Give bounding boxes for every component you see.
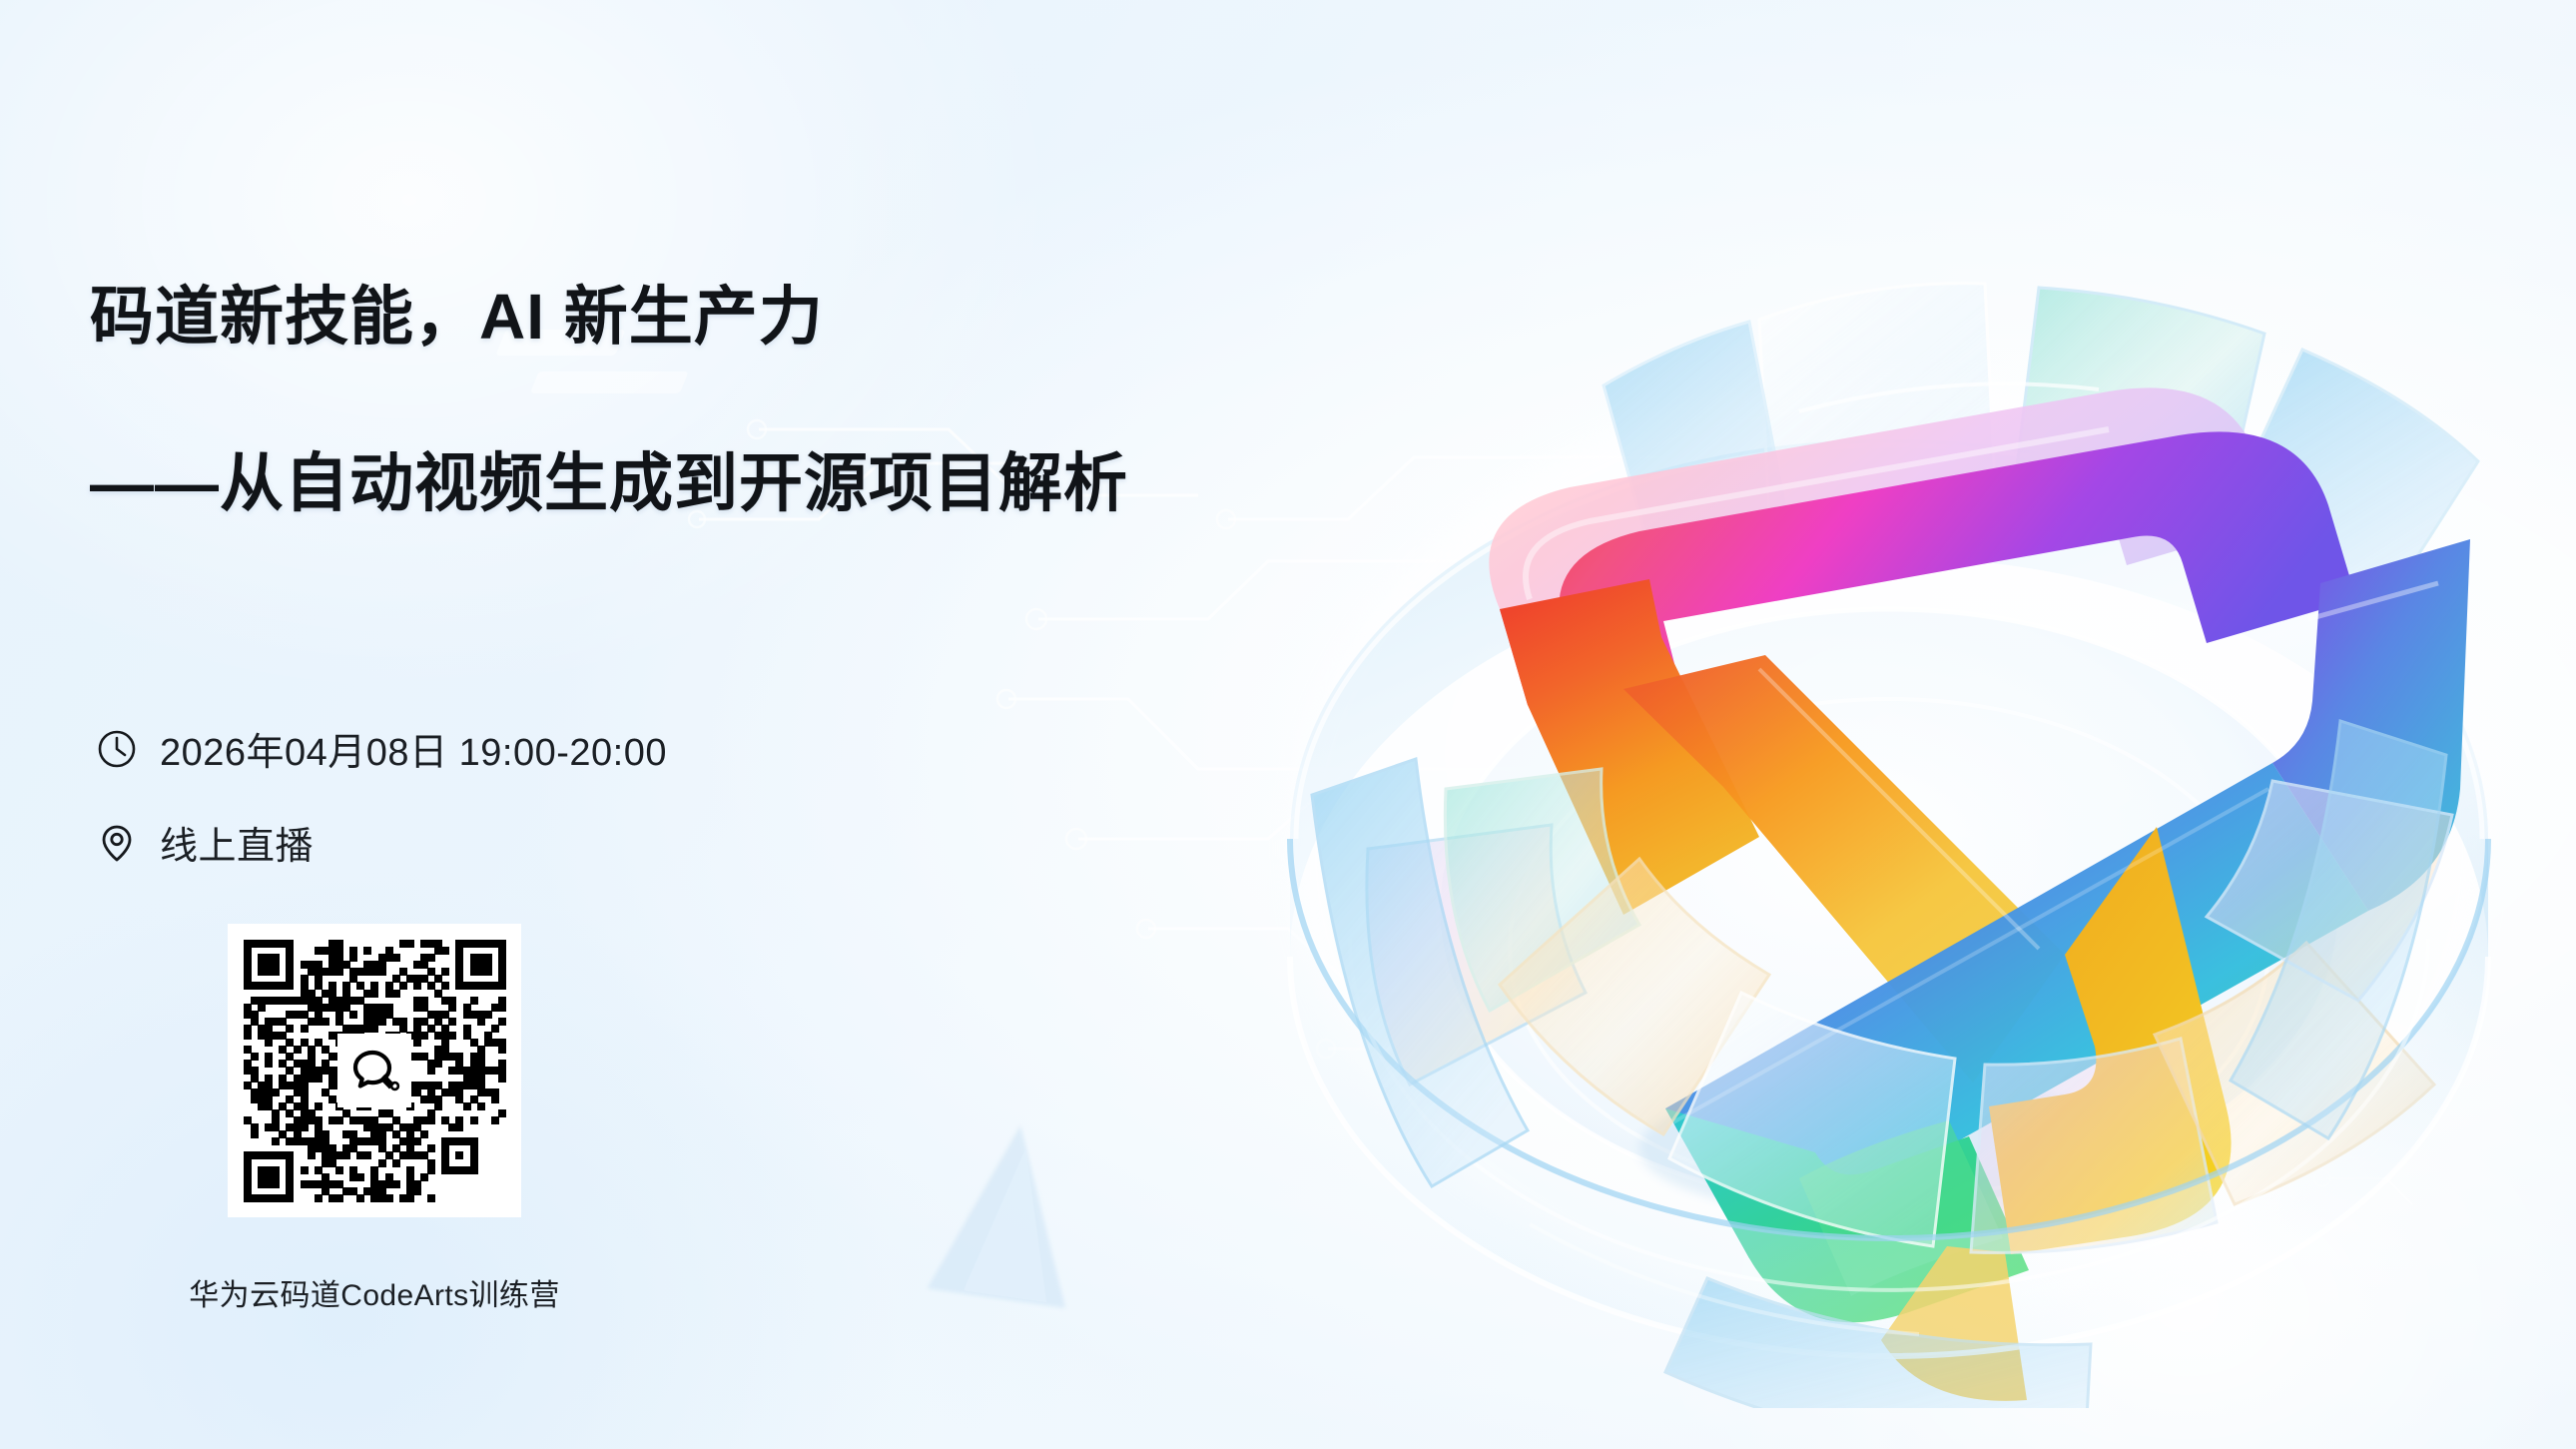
event-place-text: 线上直播	[160, 815, 314, 870]
codearts-ribbon-3d-artwork	[1200, 150, 2558, 1408]
headline-line-2: ——从自动视频生成到开源项目解析	[90, 451, 1128, 515]
poster-content: 码道新技能，AI 新生产力 ——从自动视频生成到开源项目解析 2026年04月0…	[0, 0, 1178, 1449]
event-poster: 码道新技能，AI 新生产力 ——从自动视频生成到开源项目解析 2026年04月0…	[0, 0, 2576, 1449]
qr-code[interactable]	[228, 924, 521, 1217]
event-place-row: 线上直播	[96, 815, 314, 870]
event-time-text: 2026年04月08日 19:00-20:00	[160, 721, 667, 776]
qr-code-matrix	[244, 940, 505, 1201]
clock-icon	[96, 728, 138, 770]
wechat-bubble-icon	[337, 1034, 411, 1107]
headline-line-1: 码道新技能，AI 新生产力	[90, 285, 824, 349]
location-pin-icon	[96, 822, 138, 864]
event-time-row: 2026年04月08日 19:00-20:00	[96, 721, 667, 776]
qr-code-caption: 华为云码道CodeArts训练营	[150, 1270, 599, 1314]
